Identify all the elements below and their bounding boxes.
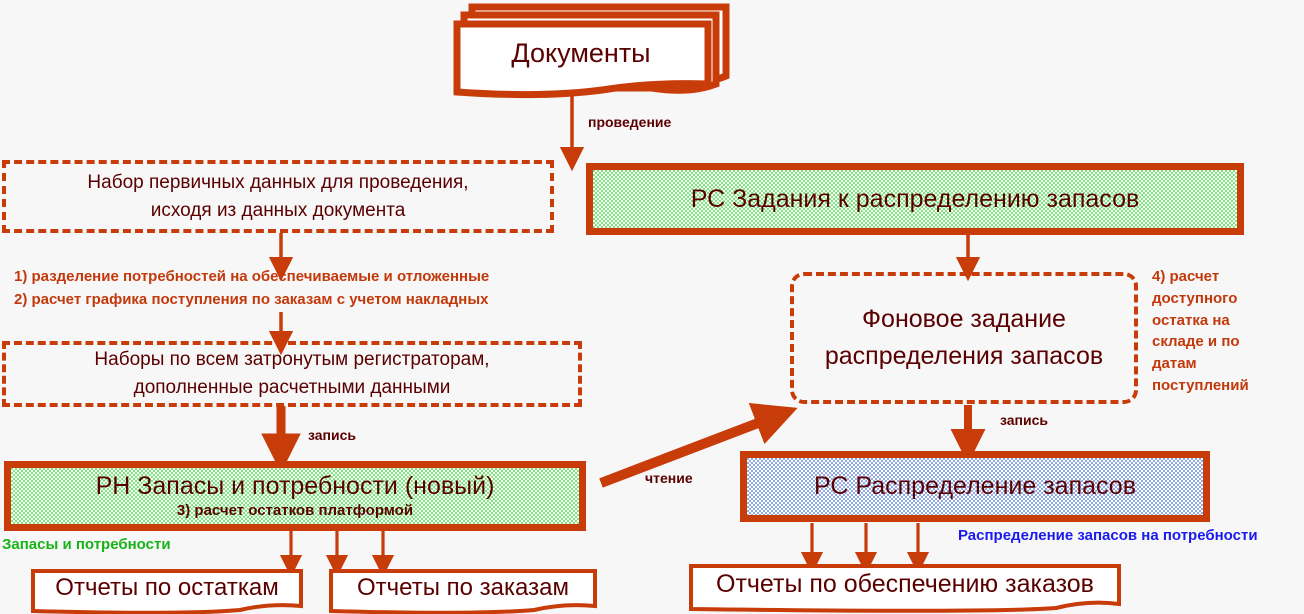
sets-by-registrars-box: Наборы по всем затронутым регистраторам,… bbox=[2, 341, 582, 407]
edge-label-write-right: запись bbox=[1000, 412, 1048, 428]
rs-tasks-node[interactable]: РС Задания к распределению запасов bbox=[586, 163, 1244, 235]
distribution-corner-label: Распределение запасов на потребности bbox=[958, 527, 1258, 544]
step-4-note: 4) расчет доступного остатка на складе и… bbox=[1152, 266, 1302, 397]
rs-tasks-title: РС Задания к распределению запасов bbox=[691, 186, 1140, 212]
primary-data-set-line1: Набор первичных данных для проведения, bbox=[87, 169, 468, 197]
background-task-node[interactable]: Фоновое задание распределения запасов bbox=[790, 272, 1138, 404]
primary-data-set-line2: исходя из данных документа bbox=[151, 197, 406, 225]
rn-stock-needs-node[interactable]: РН Запасы и потребности (новый) 3) расче… bbox=[4, 461, 586, 531]
sets-by-registrars-line1: Наборы по всем затронутым регистраторам, bbox=[94, 346, 489, 374]
step-1-text: 1) разделение потребностей на обеспечива… bbox=[14, 266, 489, 289]
steps-1-2-note: 1) разделение потребностей на обеспечива… bbox=[14, 266, 489, 312]
background-task-line1: Фоновое задание bbox=[862, 301, 1066, 339]
rn-stock-needs-subtitle: 3) расчет остатков платформой bbox=[177, 502, 413, 519]
diagram-canvas: Документы проведение Набор первичных дан… bbox=[0, 0, 1304, 612]
report-balances-node[interactable]: Отчеты по остаткам bbox=[30, 568, 304, 612]
documents-label: Документы bbox=[452, 22, 710, 84]
report-order-fulfilment-label: Отчеты по обеспечению заказов bbox=[688, 563, 1122, 606]
rs-distribution-node[interactable]: РС Распределение запасов bbox=[740, 451, 1210, 522]
report-orders-label: Отчеты по заказам bbox=[328, 568, 598, 608]
documents-node[interactable]: Документы bbox=[452, 2, 732, 102]
primary-data-set-box: Набор первичных данных для проведения, и… bbox=[2, 160, 554, 233]
edge-label-read: чтение bbox=[645, 470, 693, 486]
report-balances-label: Отчеты по остаткам bbox=[30, 568, 304, 608]
rs-distribution-title: РС Распределение запасов bbox=[814, 473, 1136, 499]
background-task-line2: распределения запасов bbox=[825, 338, 1103, 376]
rn-stock-needs-title: РН Запасы и потребности (новый) bbox=[96, 473, 495, 499]
step-2-text: 2) расчет графика поступления по заказам… bbox=[14, 289, 489, 312]
edge-label-write-left: запись bbox=[308, 427, 356, 443]
edge-label-posting: проведение bbox=[588, 114, 671, 130]
sets-by-registrars-line2: дополненные расчетными данными bbox=[134, 374, 451, 402]
report-orders-node[interactable]: Отчеты по заказам bbox=[328, 568, 598, 612]
stock-needs-corner-label: Запасы и потребности bbox=[2, 536, 171, 553]
report-order-fulfilment-node[interactable]: Отчеты по обеспечению заказов bbox=[688, 563, 1122, 610]
